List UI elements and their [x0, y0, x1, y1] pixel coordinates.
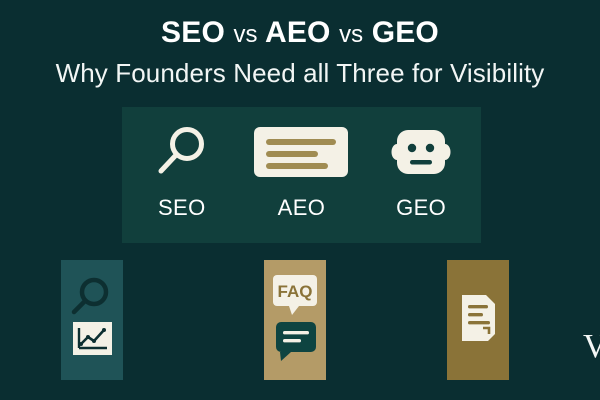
magnifier-chart-icon — [61, 260, 123, 380]
icon-column-geo: GEO — [366, 121, 476, 221]
page-subtitle: Why Founders Need all Three for Visibili… — [0, 57, 600, 89]
icon-label-geo: GEO — [396, 195, 446, 221]
title-seo: SEO — [161, 16, 225, 49]
page-title: SEO vs AEO vs GEO — [0, 16, 600, 52]
seo-card — [61, 260, 123, 380]
robot-head-icon — [386, 121, 456, 183]
answer-card-icon — [253, 121, 349, 183]
icon-label-aeo: AEO — [278, 195, 326, 221]
slide-canvas: SEO vs AEO vs GEO Why Founders Need all … — [0, 0, 600, 400]
document-icon — [447, 260, 509, 380]
icon-panel: SEO AEO — [122, 107, 481, 243]
title-vs-1: vs — [234, 21, 258, 48]
edge-watermark-letter: V — [583, 330, 600, 364]
magnifying-glass-icon — [153, 121, 211, 183]
geo-card — [447, 260, 509, 380]
faq-speech-bubble-icon: FAQ — [264, 260, 326, 380]
faq-bubble-label: FAQ — [278, 282, 313, 301]
title-vs-2: vs — [339, 21, 363, 48]
title-geo: GEO — [372, 16, 439, 49]
icon-column-seo: SEO — [127, 121, 237, 221]
aeo-card: FAQ — [264, 260, 326, 380]
title-aeo: AEO — [265, 16, 331, 49]
icon-label-seo: SEO — [158, 195, 206, 221]
icon-column-aeo: AEO — [246, 121, 356, 221]
